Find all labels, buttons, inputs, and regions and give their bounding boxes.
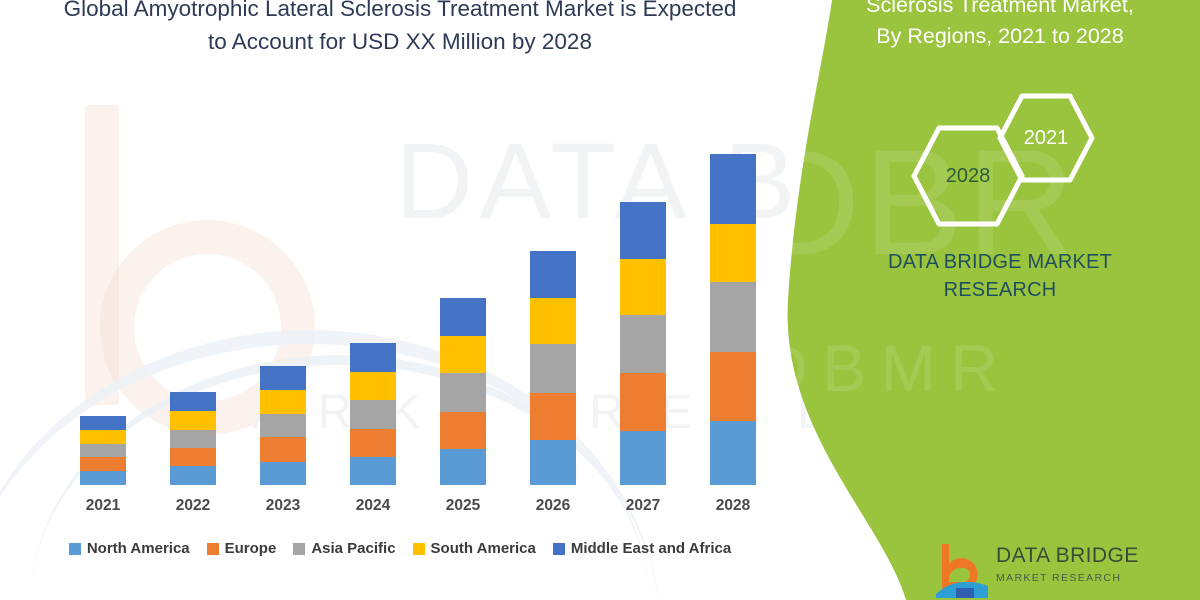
dbmr-logo: DATA BRIDGE MARKET RESEARCH bbox=[928, 532, 1178, 600]
bar-column-2021[interactable] bbox=[80, 416, 126, 485]
bar-segment[interactable] bbox=[170, 392, 216, 411]
bar-segment[interactable] bbox=[260, 390, 306, 413]
bar-segment[interactable] bbox=[170, 430, 216, 448]
brand-line-1: DATA BRIDGE MARKET bbox=[800, 248, 1200, 276]
legend-swatch-icon bbox=[69, 543, 81, 555]
bar-segment[interactable] bbox=[710, 154, 756, 224]
logo-line-1: DATA BRIDGE bbox=[996, 544, 1139, 567]
bar-segment[interactable] bbox=[260, 462, 306, 485]
legend-item[interactable]: Europe bbox=[207, 540, 277, 557]
bar-segment[interactable] bbox=[530, 440, 576, 485]
bar-segment[interactable] bbox=[80, 416, 126, 430]
bar-segment[interactable] bbox=[530, 251, 576, 298]
bar-segment[interactable] bbox=[710, 282, 756, 352]
hexagon-2028-label: 2028 bbox=[946, 165, 991, 188]
x-axis-label-2023: 2023 bbox=[238, 497, 328, 515]
bar-segment[interactable] bbox=[530, 298, 576, 345]
brand-name: DATA BRIDGE MARKET RESEARCH bbox=[800, 248, 1200, 304]
legend-label: Middle East and Africa bbox=[571, 540, 731, 557]
legend-item[interactable]: Asia Pacific bbox=[293, 540, 395, 557]
bar-segment[interactable] bbox=[350, 343, 396, 372]
bar-column-2024[interactable] bbox=[350, 343, 396, 486]
legend-label: Europe bbox=[225, 540, 277, 557]
green-panel-title: Sclerosis Treatment Market, By Regions, … bbox=[800, 0, 1200, 52]
legend-swatch-icon bbox=[553, 543, 565, 555]
x-axis-label-2021: 2021 bbox=[58, 497, 148, 515]
x-axis: 20212022202320242025202620272028 bbox=[58, 497, 778, 523]
bar-segment[interactable] bbox=[170, 411, 216, 430]
legend-item[interactable]: North America bbox=[69, 540, 190, 557]
x-axis-label-2027: 2027 bbox=[598, 497, 688, 515]
bar-segment[interactable] bbox=[80, 444, 126, 457]
x-axis-label-2024: 2024 bbox=[328, 497, 418, 515]
green-panel-content: DBR DBMR Sclerosis Treatment Market, By … bbox=[800, 0, 1200, 600]
x-axis-label-2022: 2022 bbox=[148, 497, 238, 515]
x-axis-label-2025: 2025 bbox=[418, 497, 508, 515]
legend-label: Asia Pacific bbox=[311, 540, 395, 557]
bar-segment[interactable] bbox=[260, 366, 306, 390]
x-axis-label-2028: 2028 bbox=[688, 497, 778, 515]
bar-segment[interactable] bbox=[530, 393, 576, 440]
dbmr-logo-mark bbox=[934, 542, 990, 598]
logo-line-2: MARKET RESEARCH bbox=[996, 567, 1139, 590]
hexagon-2021-label: 2021 bbox=[1024, 127, 1069, 150]
bar-segment[interactable] bbox=[620, 315, 666, 372]
chart-title: Global Amyotrophic Lateral Sclerosis Tre… bbox=[0, 0, 800, 58]
bar-segment[interactable] bbox=[710, 352, 756, 421]
bar-segment[interactable] bbox=[80, 457, 126, 471]
bar-segment[interactable] bbox=[440, 336, 486, 374]
bar-column-2025[interactable] bbox=[440, 298, 486, 485]
bar-segment[interactable] bbox=[530, 344, 576, 393]
bar-column-2028[interactable] bbox=[710, 154, 756, 485]
bar-segment[interactable] bbox=[80, 471, 126, 485]
bar-segment[interactable] bbox=[80, 430, 126, 444]
green-title-line-2: By Regions, 2021 to 2028 bbox=[814, 21, 1186, 52]
brand-line-2: RESEARCH bbox=[800, 276, 1200, 304]
hexagon-2021: 2021 bbox=[996, 92, 1096, 184]
bar-segment[interactable] bbox=[710, 421, 756, 485]
bar-segment[interactable] bbox=[440, 373, 486, 411]
legend-label: South America bbox=[431, 540, 536, 557]
dbmr-logo-text: DATA BRIDGE MARKET RESEARCH bbox=[996, 544, 1139, 590]
bar-segment[interactable] bbox=[350, 400, 396, 429]
bar-segment[interactable] bbox=[260, 414, 306, 437]
chart-title-line-2: to Account for USD XX Million by 2028 bbox=[30, 25, 770, 58]
chart-legend: North AmericaEuropeAsia PacificSouth Ame… bbox=[0, 540, 800, 557]
bar-segment[interactable] bbox=[620, 431, 666, 485]
chart-title-line-1: Global Amyotrophic Lateral Sclerosis Tre… bbox=[30, 0, 770, 25]
bar-segment[interactable] bbox=[620, 202, 666, 259]
bar-segment[interactable] bbox=[620, 373, 666, 431]
bar-segment[interactable] bbox=[710, 224, 756, 281]
bar-segment[interactable] bbox=[170, 466, 216, 485]
legend-swatch-icon bbox=[207, 543, 219, 555]
legend-swatch-icon bbox=[293, 543, 305, 555]
bar-segment[interactable] bbox=[440, 412, 486, 450]
legend-swatch-icon bbox=[413, 543, 425, 555]
bar-column-2023[interactable] bbox=[260, 366, 306, 485]
plot-area bbox=[58, 110, 778, 485]
bar-segment[interactable] bbox=[620, 259, 666, 315]
bar-segment[interactable] bbox=[350, 372, 396, 400]
legend-label: North America bbox=[87, 540, 190, 557]
bar-segment[interactable] bbox=[260, 437, 306, 461]
legend-item[interactable]: Middle East and Africa bbox=[553, 540, 731, 557]
hexagon-group: 2028 2021 bbox=[800, 96, 1200, 226]
x-axis-label-2026: 2026 bbox=[508, 497, 598, 515]
bar-segment[interactable] bbox=[350, 457, 396, 485]
bar-segment[interactable] bbox=[170, 448, 216, 467]
bar-column-2022[interactable] bbox=[170, 392, 216, 485]
legend-item[interactable]: South America bbox=[413, 540, 536, 557]
bar-segment[interactable] bbox=[440, 298, 486, 336]
bar-segment[interactable] bbox=[440, 449, 486, 485]
bar-column-2027[interactable] bbox=[620, 202, 666, 485]
green-title-line-1: Sclerosis Treatment Market, bbox=[814, 0, 1186, 21]
bar-segment[interactable] bbox=[350, 429, 396, 457]
chart-panel: DATA BRIDGE M A R K E T R E S E A R C H … bbox=[0, 0, 830, 600]
bar-column-2026[interactable] bbox=[530, 251, 576, 485]
